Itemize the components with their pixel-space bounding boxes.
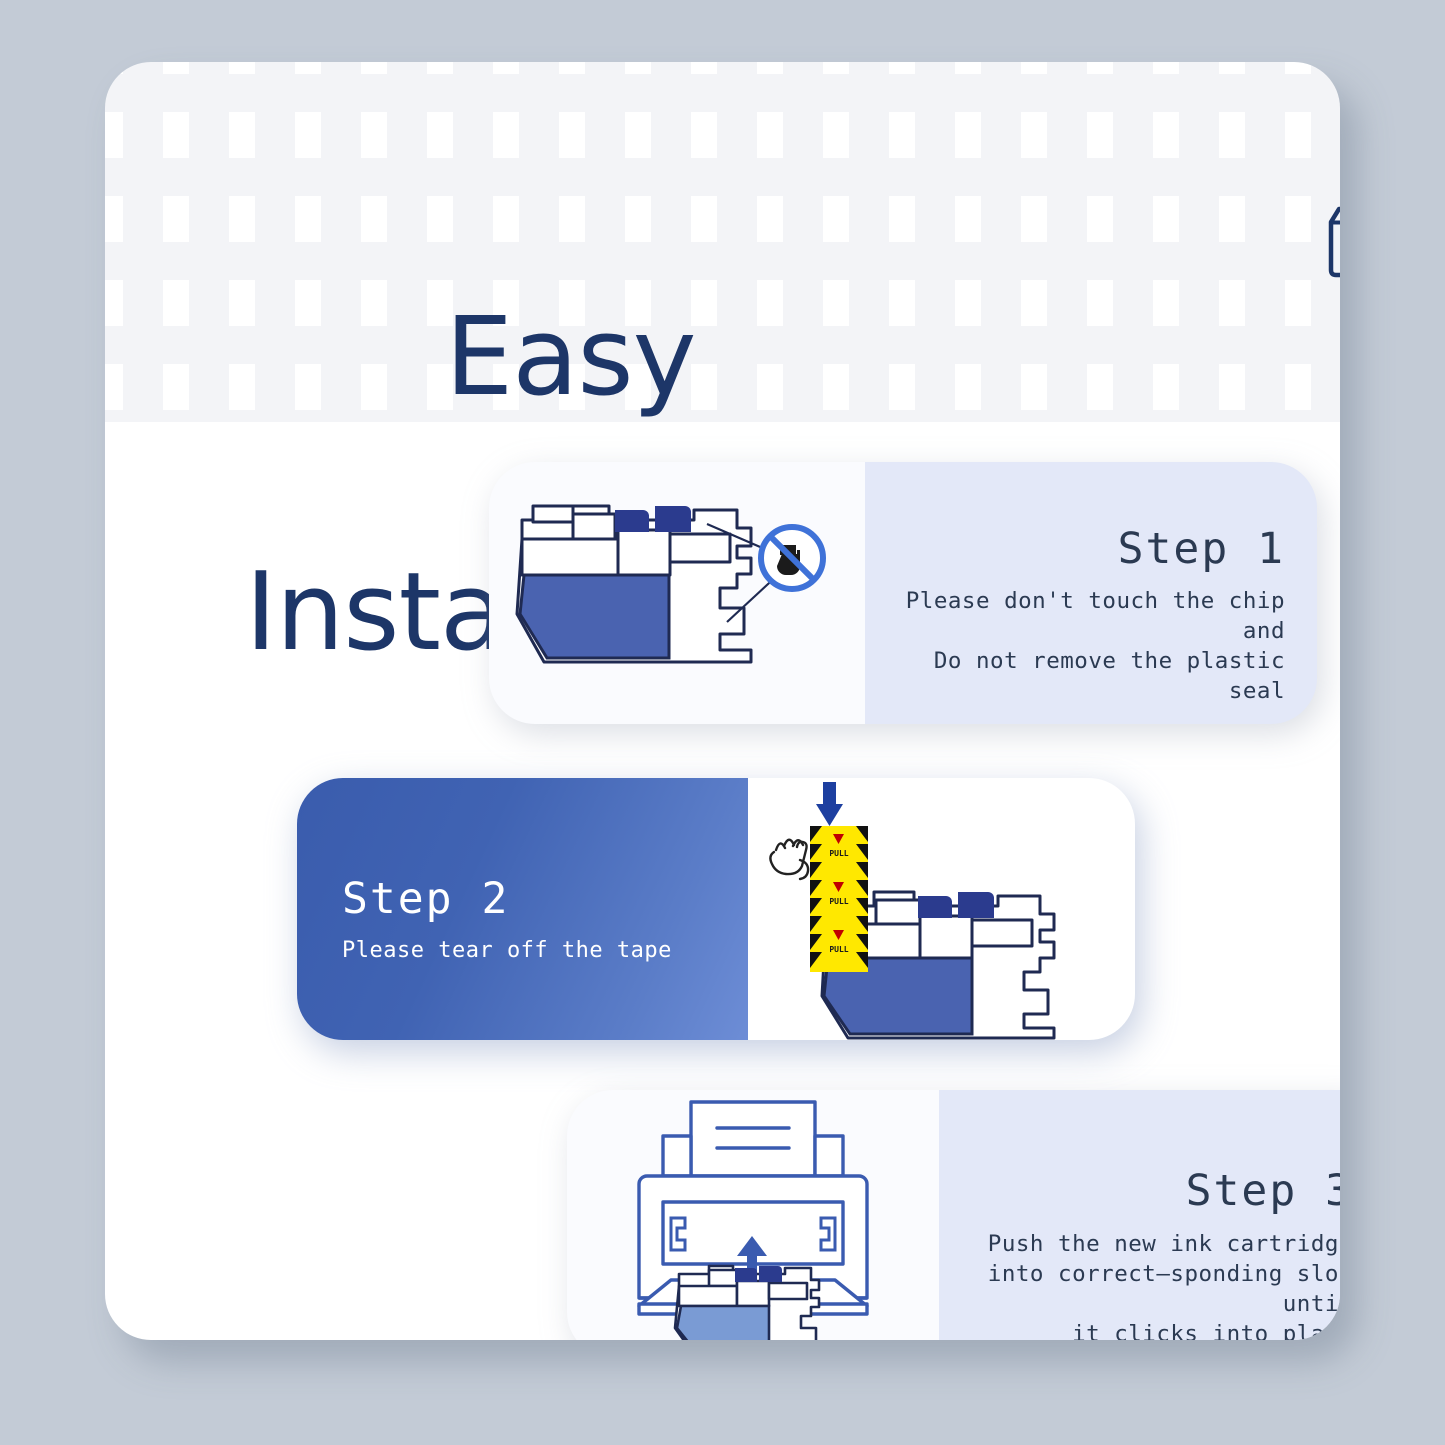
step-1-description: Please don't touch the chip and Do not r… xyxy=(865,587,1285,707)
step-2-illustration-panel: PULL PULL PULL xyxy=(748,778,1135,1040)
step-3-heading: Step 3 xyxy=(1186,1166,1340,1216)
ink-cartridge-no-touch-icon xyxy=(489,462,865,724)
step-card-2[interactable]: Step 2 Please tear off the tape xyxy=(297,778,1135,1040)
printer-insert-cartridge-icon xyxy=(567,1090,939,1340)
down-arrow-icon xyxy=(816,782,843,826)
step-3-line-3: it clicks into place xyxy=(939,1320,1340,1340)
step-2-text-panel: Step 2 Please tear off the tape xyxy=(297,778,748,1040)
step-1-line-1: Please don't touch the chip and xyxy=(865,587,1285,647)
step-3-text-panel: Step 3 Push the new ink cartridge into c… xyxy=(939,1090,1340,1340)
install-box-download-icon xyxy=(1321,200,1340,284)
step-1-heading: Step 1 xyxy=(1118,524,1285,574)
main-card: Easy Installation xyxy=(105,62,1340,1340)
step-3-line-1: Push the new ink cartridge xyxy=(939,1230,1340,1260)
pull-tape: PULL PULL PULL xyxy=(810,826,868,972)
step-3-description: Push the new ink cartridge into correct—… xyxy=(939,1230,1340,1340)
pointing-hand-icon xyxy=(770,840,808,879)
step-1-line-2: Do not remove the plastic seal xyxy=(865,647,1285,707)
ink-cartridge-pull-tape-icon: PULL PULL PULL xyxy=(748,778,1135,1040)
step-2-heading: Step 2 xyxy=(342,874,509,924)
step-card-1[interactable]: Step 1 Please don't touch the chip and D… xyxy=(489,462,1317,724)
step-2-description: Please tear off the tape xyxy=(342,936,672,965)
step-3-line-2: into correct—sponding slot until xyxy=(939,1260,1340,1320)
tape-label-1: PULL xyxy=(829,849,848,858)
step-1-text-panel: Step 1 Please don't touch the chip and D… xyxy=(865,462,1317,724)
page-title-line1: Easy xyxy=(445,295,696,420)
tape-label-3: PULL xyxy=(829,945,848,954)
poster-stage: Easy Installation xyxy=(0,0,1445,1445)
step-card-3[interactable]: Step 3 Push the new ink cartridge into c… xyxy=(567,1090,1340,1340)
step-3-illustration-panel xyxy=(567,1090,939,1340)
step-1-illustration-panel xyxy=(489,462,865,724)
tape-label-2: PULL xyxy=(829,897,848,906)
step-2-line-1: Please tear off the tape xyxy=(342,936,672,965)
